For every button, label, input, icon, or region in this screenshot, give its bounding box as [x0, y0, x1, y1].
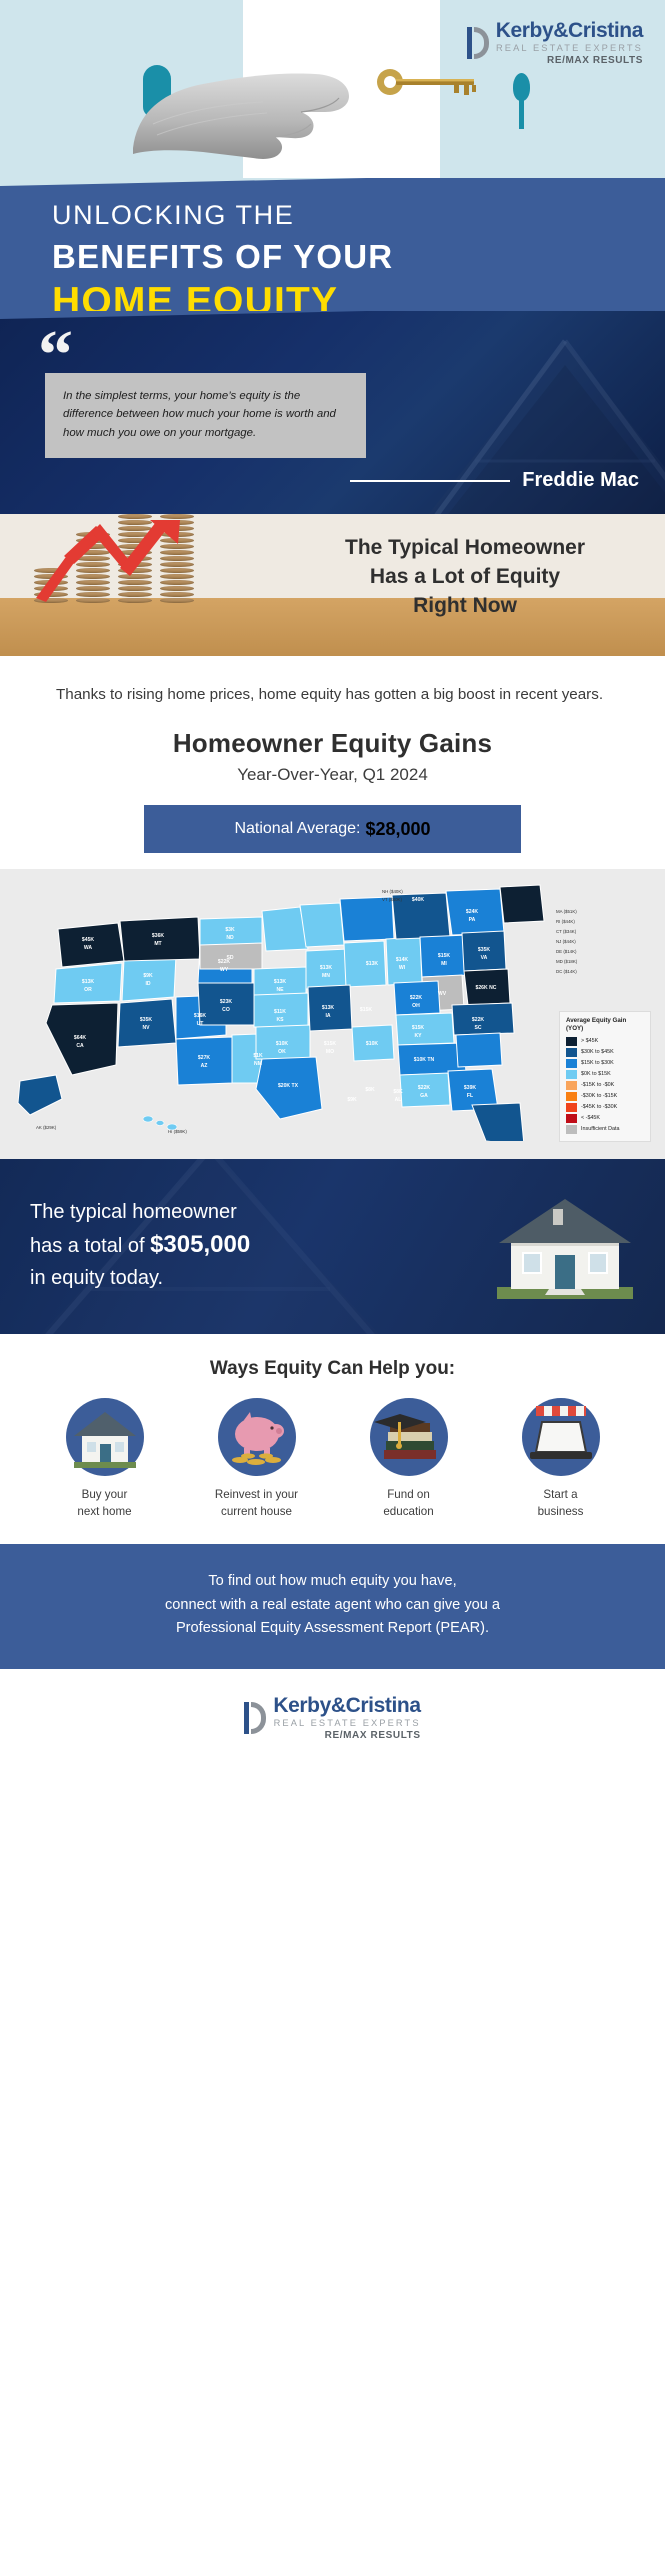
svg-text:$8K: $8K: [393, 1089, 403, 1095]
legend-label: -$30K to -$15K: [581, 1093, 617, 1099]
legend-swatch: [566, 1037, 577, 1046]
total-amount: $305,000: [150, 1231, 250, 1258]
svg-text:KS: KS: [276, 1017, 284, 1023]
svg-text:$13K: $13K: [366, 961, 378, 967]
national-average-badge: National Average: $28,000: [144, 805, 521, 853]
svg-text:UT: UT: [197, 1021, 205, 1027]
svg-text:OR: OR: [84, 987, 92, 993]
svg-text:SC: SC: [474, 1025, 481, 1031]
svg-text:AK ($29K): AK ($29K): [36, 1125, 57, 1130]
way-label-1a: Buy your: [36, 1487, 174, 1503]
legend-title: Average Equity Gain (YOY): [566, 1017, 644, 1033]
svg-text:$9K: $9K: [347, 1097, 357, 1103]
svg-text:CT ($34K): CT ($34K): [556, 929, 577, 934]
svg-text:CA: CA: [76, 1043, 84, 1049]
svg-text:$26K NC: $26K NC: [476, 985, 497, 991]
legend-label: -$15K to -$0K: [581, 1082, 614, 1088]
brand-affiliation: RE/MAX RESULTS: [496, 56, 643, 66]
svg-text:ID: ID: [145, 981, 150, 987]
title-band: UNLOCKING THE BENEFITS OF YOUR HOME EQUI…: [0, 178, 665, 311]
legend-swatch: [566, 1048, 577, 1057]
svg-text:$39K: $39K: [464, 1085, 476, 1091]
svg-text:$40K: $40K: [412, 897, 424, 903]
quote-section: “ In the simplest terms, your home’s equ…: [0, 311, 665, 514]
kc-logo-mark-icon: [467, 26, 489, 60]
svg-text:$16K: $16K: [194, 1013, 206, 1019]
laptop-icon: [522, 1398, 600, 1476]
svg-text:ND: ND: [226, 935, 234, 941]
footer: Kerby&Cristina REAL ESTATE EXPERTS RE/MA…: [0, 1669, 665, 1763]
svg-text:$13K: $13K: [320, 965, 332, 971]
svg-text:$15K: $15K: [412, 1025, 424, 1031]
banner-heading-line-3: Right Now: [295, 592, 635, 621]
legend-row: > $45K: [566, 1037, 644, 1046]
svg-text:CO: CO: [222, 1007, 230, 1013]
svg-text:MA ($51K): MA ($51K): [556, 909, 577, 914]
legend-row: $15K to $30K: [566, 1059, 644, 1068]
svg-text:$36K: $36K: [152, 933, 164, 939]
legend-swatch: [566, 1125, 577, 1134]
svg-text:$24K: $24K: [466, 909, 478, 915]
legend-label: -$45K to -$30K: [581, 1104, 617, 1110]
attribution-name: Freddie Mac: [522, 469, 639, 492]
house-icon: [66, 1398, 144, 1476]
svg-text:$3K: $3K: [225, 927, 235, 933]
white-house-photo: [489, 1191, 641, 1301]
svg-text:$22K: $22K: [410, 995, 422, 1001]
banner-heading-line-1: The Typical Homeowner: [295, 534, 635, 563]
svg-text:AL: AL: [395, 1097, 402, 1103]
quote-mark-icon: “: [38, 335, 73, 377]
svg-text:SD: SD: [226, 955, 233, 961]
cta-line-3: Professional Equity Assessment Report (P…: [42, 1617, 623, 1641]
banner-heading: The Typical Homeowner Has a Lot of Equit…: [295, 534, 635, 621]
svg-text:$27K: $27K: [198, 1055, 210, 1061]
title-line-3: HOME EQUITY: [52, 280, 665, 311]
svg-text:NM: NM: [254, 1061, 262, 1067]
gold-key-icon: [376, 68, 486, 101]
ways-equity-helps-section: Ways Equity Can Help you: Buy your next: [0, 1334, 665, 1544]
svg-text:$35K: $35K: [140, 1017, 152, 1023]
attribution-rule: [350, 480, 510, 482]
title-line-1: UNLOCKING THE: [52, 200, 665, 231]
total-equity-section: The typical homeowner has a total of $30…: [0, 1159, 665, 1334]
svg-text:FL: FL: [467, 1093, 473, 1099]
legend-row: $30K to $45K: [566, 1048, 644, 1057]
cta-line-1: To find out how much equity you have,: [42, 1570, 623, 1594]
svg-text:$15K: $15K: [324, 1041, 336, 1047]
teal-keyhole-decoration: [513, 73, 530, 101]
svg-text:$13K: $13K: [82, 979, 94, 985]
hero-banner: Kerby&Cristina REAL ESTATE EXPERTS RE/MA…: [0, 0, 665, 178]
way-label-2b: current house: [188, 1504, 326, 1520]
legend-swatch: [566, 1114, 577, 1123]
brand-name: Kerby&Cristina: [496, 20, 643, 41]
svg-text:MD ($18K): MD ($18K): [556, 959, 578, 964]
legend-swatch: [566, 1070, 577, 1079]
cta-line-2: connect with a real estate agent who can…: [42, 1594, 623, 1618]
footer-brand-name: Kerby&Cristina: [273, 1695, 420, 1716]
total-line-3: in equity today.: [30, 1263, 370, 1293]
red-growth-arrow-icon: [28, 520, 208, 602]
svg-text:$10K: $10K: [276, 1041, 288, 1047]
svg-text:MN: MN: [322, 973, 330, 979]
svg-text:$10K TN: $10K TN: [414, 1057, 435, 1063]
intro-text: Thanks to rising home prices, home equit…: [56, 683, 609, 706]
svg-text:VA: VA: [481, 955, 488, 961]
svg-text:$11K: $11K: [274, 1009, 286, 1015]
way-label-4a: Start a: [492, 1487, 630, 1503]
total-equity-text: The typical homeowner has a total of $30…: [30, 1197, 370, 1293]
svg-text:$8K: $8K: [365, 1087, 375, 1093]
svg-text:NV: NV: [142, 1025, 150, 1031]
intro-section: Thanks to rising home prices, home equit…: [0, 656, 665, 728]
gains-subtitle: Year-Over-Year, Q1 2024: [0, 765, 665, 785]
svg-text:WY: WY: [220, 967, 229, 973]
legend-row: Insufficient Data: [566, 1125, 644, 1134]
way-label-2a: Reinvest in your: [188, 1487, 326, 1503]
svg-text:AZ: AZ: [201, 1063, 208, 1069]
equity-gains-section: Homeowner Equity Gains Year-Over-Year, Q…: [0, 728, 665, 869]
svg-text:OK: OK: [278, 1049, 286, 1055]
svg-text:GA: GA: [420, 1093, 428, 1099]
total-line-1: The typical homeowner: [30, 1197, 370, 1227]
brand-tagline: REAL ESTATE EXPERTS: [496, 44, 643, 53]
svg-text:$23K: $23K: [220, 999, 232, 1005]
legend-label: Insufficient Data: [581, 1126, 620, 1132]
books-icon: [370, 1398, 448, 1476]
legend-row: $0K to $15K: [566, 1070, 644, 1079]
way-label-4b: business: [492, 1504, 630, 1520]
svg-text:$13K: $13K: [274, 979, 286, 985]
svg-text:$14K: $14K: [396, 957, 408, 963]
ways-heading: Ways Equity Can Help you:: [0, 1358, 665, 1380]
svg-text:$20K TX: $20K TX: [278, 1083, 299, 1089]
way-item-business: Start a business: [492, 1398, 630, 1520]
legend-swatch: [566, 1092, 577, 1101]
svg-text:VT ($40K): VT ($40K): [382, 897, 402, 902]
ways-grid: Buy your next home: [0, 1398, 665, 1520]
svg-text:KY: KY: [414, 1033, 422, 1039]
svg-text:MT: MT: [154, 941, 162, 947]
us-map: $45KWA $13KOR $64KCA $35KNV $9KID $36KMT…: [0, 883, 665, 1141]
gains-title: Homeowner Equity Gains: [0, 728, 665, 759]
kc-logo-mark-icon-footer: [244, 1701, 266, 1735]
way-label-3a: Fund on: [340, 1487, 478, 1503]
legend-swatch: [566, 1103, 577, 1112]
svg-text:$35K: $35K: [478, 947, 490, 953]
svg-text:DE ($14K): DE ($14K): [556, 949, 577, 954]
svg-text:IA: IA: [325, 1013, 330, 1019]
legend-label: < -$45K: [581, 1115, 600, 1121]
svg-text:WV: WV: [438, 991, 447, 997]
way-item-reinvest: Reinvest in your current house: [188, 1398, 326, 1520]
svg-text:RI ($44K): RI ($44K): [556, 919, 575, 924]
hand-holding-key-image: [133, 52, 393, 162]
quote-box: In the simplest terms, your home’s equit…: [45, 373, 366, 458]
piggybank-icon: [218, 1398, 296, 1476]
svg-text:$22K: $22K: [418, 1085, 430, 1091]
us-equity-map-section: $45KWA $13KOR $64KCA $35KNV $9KID $36KMT…: [0, 869, 665, 1159]
legend-row: < -$45K: [566, 1114, 644, 1123]
way-label-1b: next home: [36, 1504, 174, 1520]
brand-logo-header[interactable]: Kerby&Cristina REAL ESTATE EXPERTS RE/MA…: [467, 20, 643, 66]
svg-text:PA: PA: [469, 917, 476, 923]
quote-text: In the simplest terms, your home’s equit…: [63, 387, 348, 442]
legend-swatch: [566, 1059, 577, 1068]
svg-text:$64K: $64K: [74, 1035, 86, 1041]
svg-text:NE: NE: [276, 987, 284, 993]
total-line-2-prefix: has a total of: [30, 1235, 150, 1257]
svg-text:$15K: $15K: [438, 953, 450, 959]
brand-logo-footer[interactable]: Kerby&Cristina REAL ESTATE EXPERTS RE/MA…: [244, 1695, 420, 1741]
svg-text:$13K: $13K: [322, 1005, 334, 1011]
legend-row: -$45K to -$30K: [566, 1103, 644, 1112]
svg-text:$9K: $9K: [143, 973, 153, 979]
map-legend: Average Equity Gain (YOY) > $45K$30K to …: [559, 1011, 651, 1142]
coins-banner-section: The Typical Homeowner Has a Lot of Equit…: [0, 514, 665, 656]
legend-rows: > $45K$30K to $45K$15K to $30K$0K to $15…: [566, 1037, 644, 1134]
footer-brand-affiliation: RE/MAX RESULTS: [273, 1731, 420, 1741]
svg-text:$10K: $10K: [366, 1041, 378, 1047]
svg-text:WA: WA: [84, 945, 93, 951]
svg-text:$15K: $15K: [360, 1007, 372, 1013]
infographic-page: Kerby&Cristina REAL ESTATE EXPERTS RE/MA…: [0, 0, 665, 1763]
title-line-2: BENEFITS OF YOUR: [52, 238, 665, 276]
svg-text:NH ($40K): NH ($40K): [382, 889, 403, 894]
banner-heading-line-2: Has a Lot of Equity: [295, 563, 635, 592]
cta-section: To find out how much equity you have, co…: [0, 1544, 665, 1669]
way-label-3b: education: [340, 1504, 478, 1520]
legend-label: $0K to $15K: [581, 1071, 611, 1077]
legend-label: > $45K: [581, 1038, 598, 1044]
legend-row: -$15K to -$0K: [566, 1081, 644, 1090]
footer-brand-tagline: REAL ESTATE EXPERTS: [273, 1719, 420, 1728]
national-average-label: National Average:: [234, 820, 360, 838]
svg-text:NJ ($44K): NJ ($44K): [556, 939, 576, 944]
svg-text:WI: WI: [399, 965, 406, 971]
legend-swatch: [566, 1081, 577, 1090]
svg-text:MO: MO: [326, 1049, 334, 1055]
way-item-buy-home: Buy your next home: [36, 1398, 174, 1520]
svg-text:OH: OH: [412, 1003, 420, 1009]
svg-text:$1K: $1K: [253, 1053, 263, 1059]
way-item-education: Fund on education: [340, 1398, 478, 1520]
legend-label: $30K to $45K: [581, 1049, 614, 1055]
svg-text:$22K: $22K: [472, 1017, 484, 1023]
national-average-value: $28,000: [365, 819, 430, 840]
svg-text:$45K: $45K: [82, 937, 94, 943]
svg-text:DC ($14K): DC ($14K): [556, 969, 577, 974]
svg-text:MI: MI: [441, 961, 447, 967]
quote-attribution: Freddie Mac: [350, 469, 639, 492]
legend-label: $15K to $30K: [581, 1060, 614, 1066]
legend-row: -$30K to -$15K: [566, 1092, 644, 1101]
